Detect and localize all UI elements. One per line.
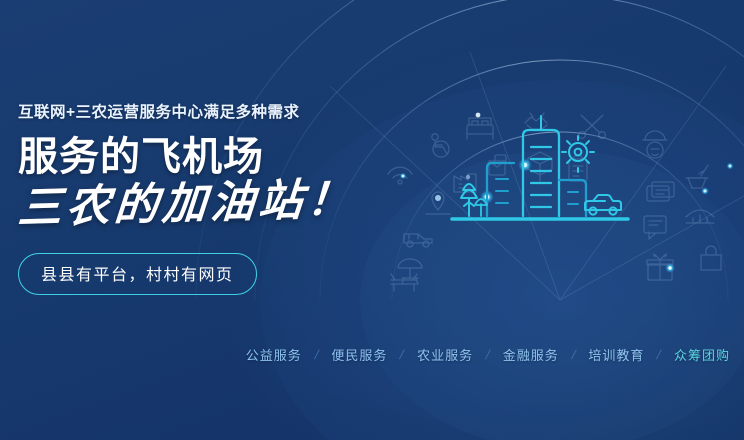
promo-banner: 互联网+三农运营服务中心满足多种需求 服务的飞机场 三农的加油站！ 县县有平台，… (0, 0, 744, 440)
nav-item-crowdfunding[interactable]: 众筹团购 (674, 345, 730, 364)
service-category-nav: 公益服务 / 便民服务 / 农业服务 / 金融服务 / 培训教育 / 众筹团购 (246, 345, 730, 364)
nav-separator: / (655, 347, 662, 362)
banner-kicker: 互联网+三农运营服务中心满足多种需求 (18, 104, 378, 121)
nav-separator: / (484, 347, 491, 362)
nav-separator: / (313, 347, 320, 362)
nav-item-agriculture[interactable]: 农业服务 (417, 345, 473, 364)
nav-item-public-welfare[interactable]: 公益服务 (246, 345, 302, 364)
banner-headline: 服务的飞机场 (18, 137, 378, 179)
banner-headline-script: 三农的加油站！ (16, 175, 381, 233)
banner-copy: 互联网+三农运营服务中心满足多种需求 服务的飞机场 三农的加油站！ 县县有平台，… (18, 104, 378, 295)
nav-item-convenience[interactable]: 便民服务 (331, 345, 387, 364)
slogan-pill[interactable]: 县县有平台，村村有网页 (18, 253, 257, 295)
nav-separator: / (399, 347, 406, 362)
nav-separator: / (570, 347, 577, 362)
nav-item-finance[interactable]: 金融服务 (503, 345, 559, 364)
nav-item-training[interactable]: 培训教育 (588, 345, 644, 364)
